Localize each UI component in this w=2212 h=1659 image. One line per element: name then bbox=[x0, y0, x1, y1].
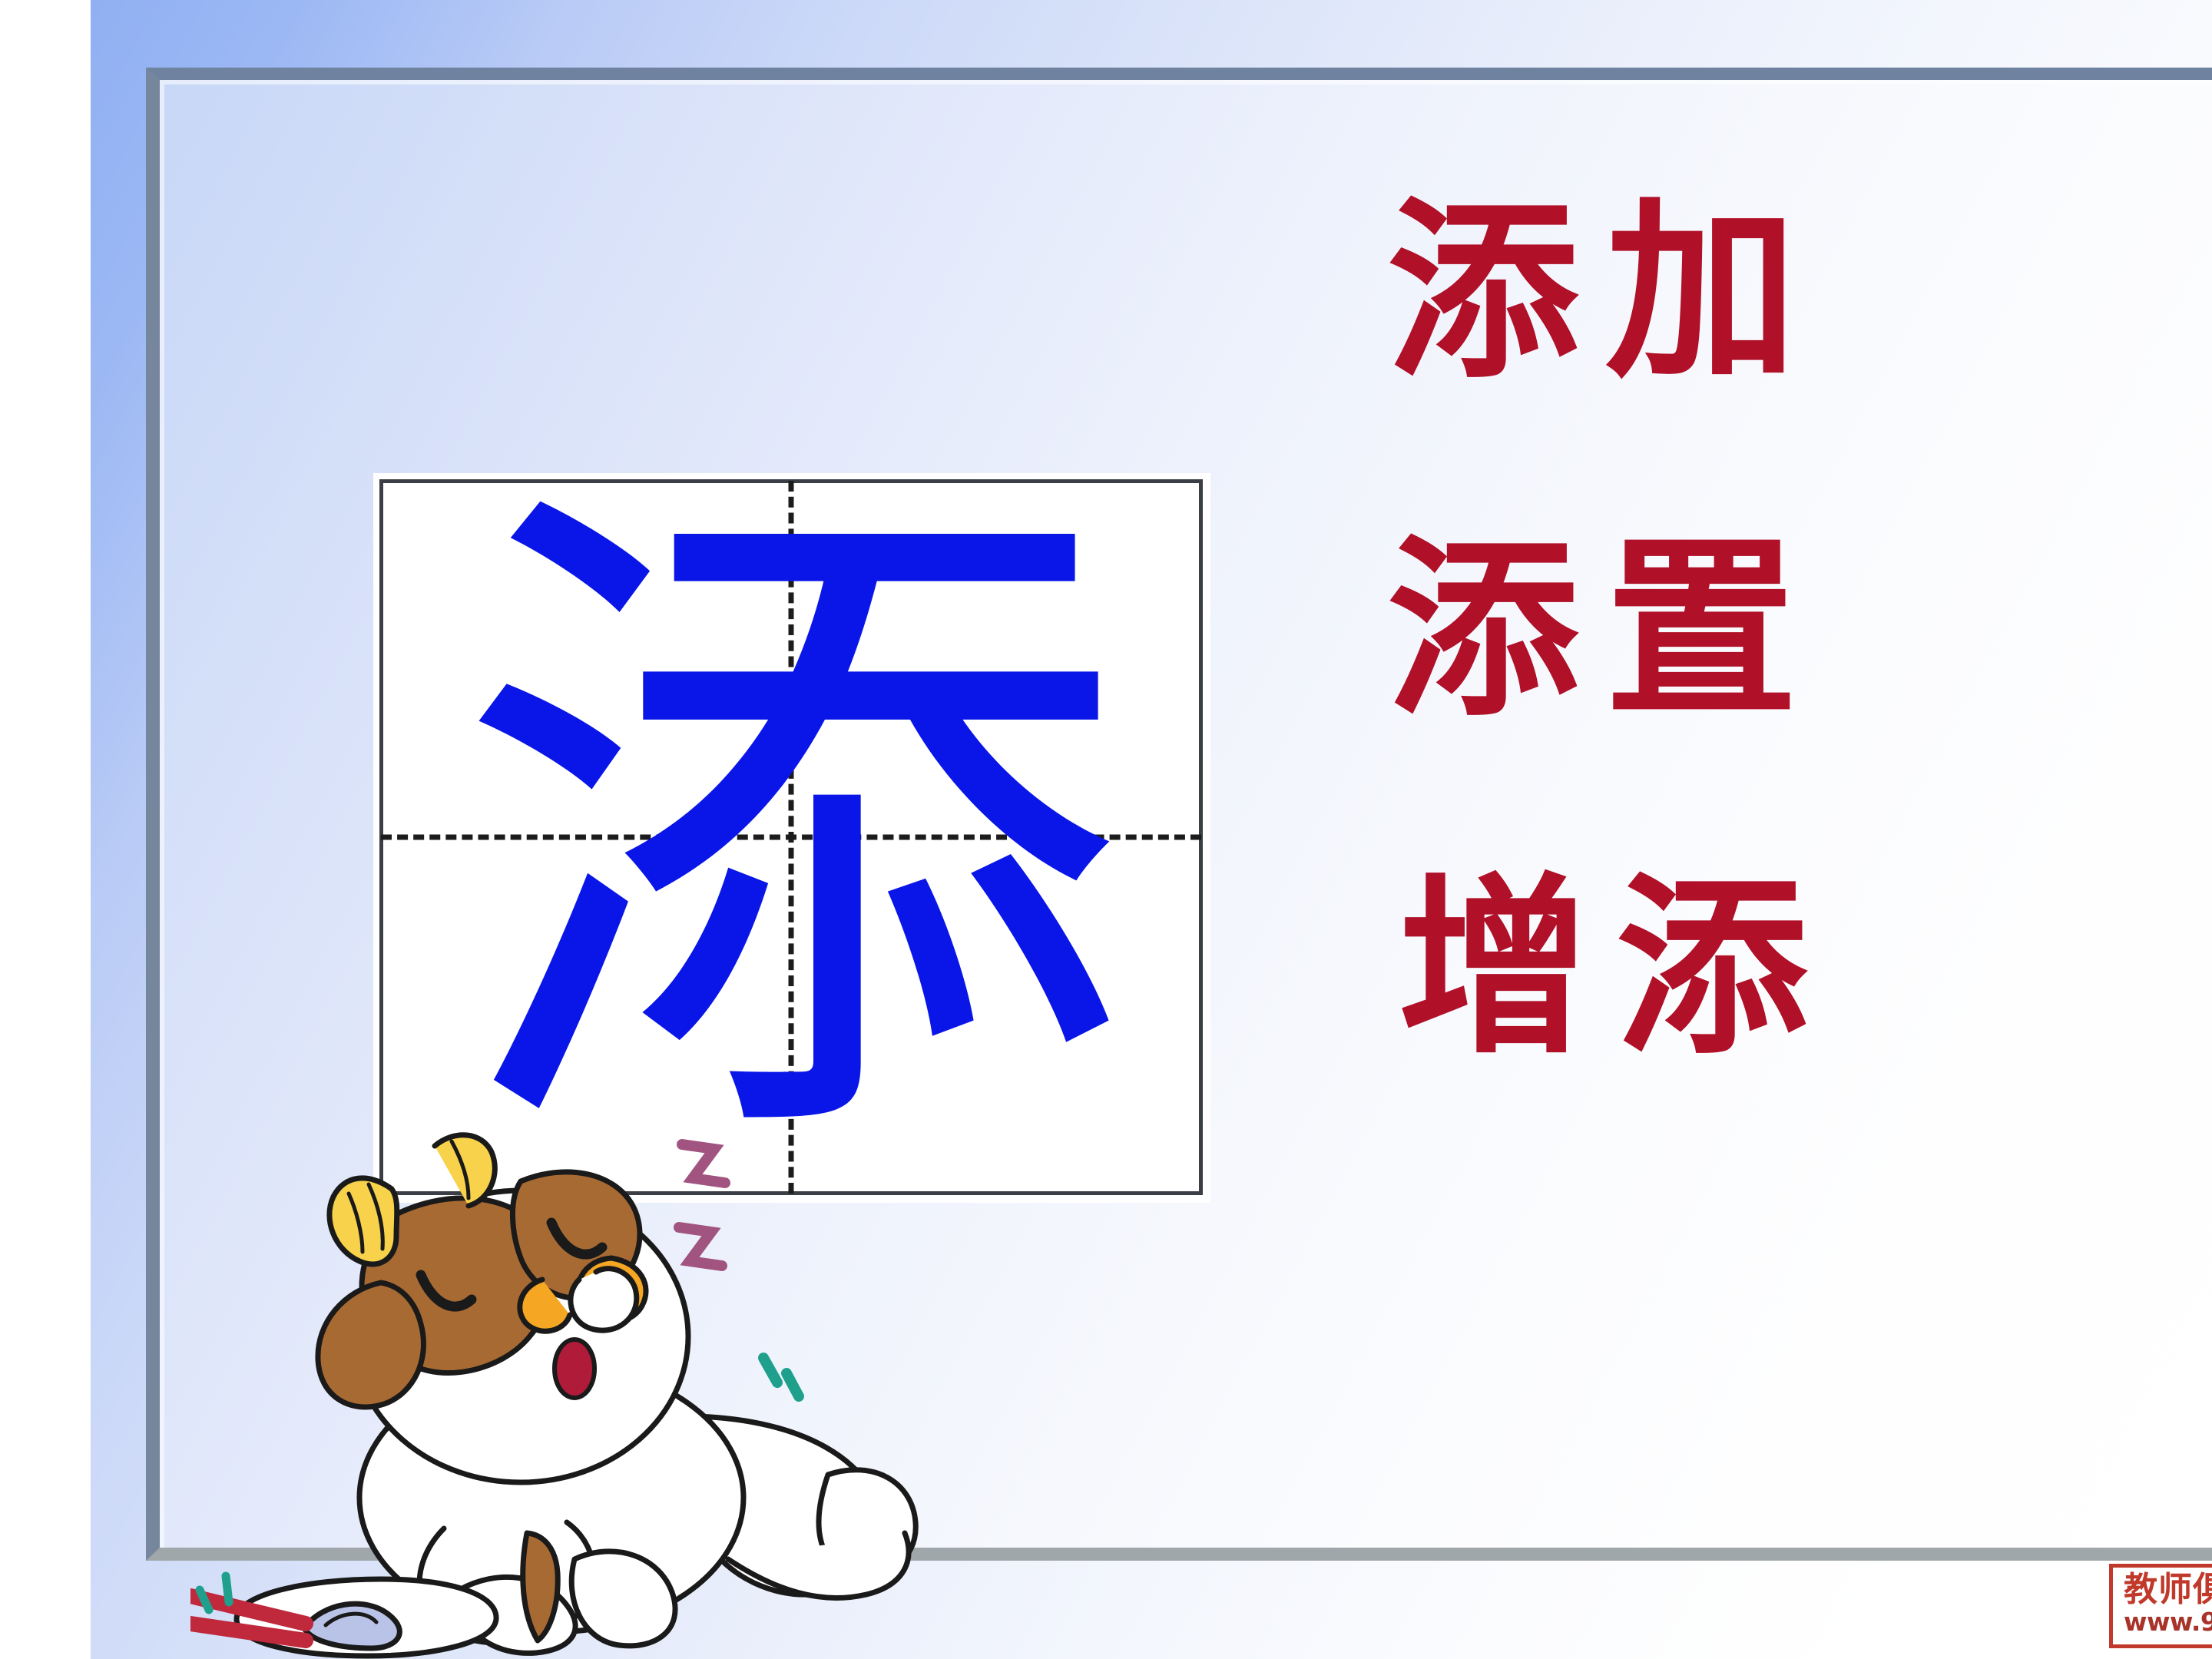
practice-character: 添 bbox=[383, 483, 1199, 1191]
slide-page: 添 添加 添置 增添 bbox=[0, 0, 2212, 1659]
grid-box: 添 bbox=[379, 479, 1203, 1195]
watermark-badge: 教师俱乐 www.910club. bbox=[2109, 1564, 2212, 1648]
slide-inner-frame: 添 添加 添置 增添 bbox=[146, 68, 2212, 1561]
watermark-url-text: www.910club. bbox=[2124, 1609, 2212, 1636]
character-practice-grid: 添 bbox=[373, 473, 1210, 1203]
watermark-chinese-text: 教师俱乐 bbox=[2124, 1572, 2212, 1608]
vocabulary-word-list: 添加 添置 增添 bbox=[1343, 195, 2111, 1063]
slide-canvas: 添 添加 添置 增添 bbox=[91, 0, 2212, 1659]
vocabulary-word-1: 添加 bbox=[1387, 195, 2111, 387]
vocabulary-word-2: 添置 bbox=[1387, 533, 2111, 725]
vocabulary-word-3: 增添 bbox=[1398, 871, 2111, 1063]
